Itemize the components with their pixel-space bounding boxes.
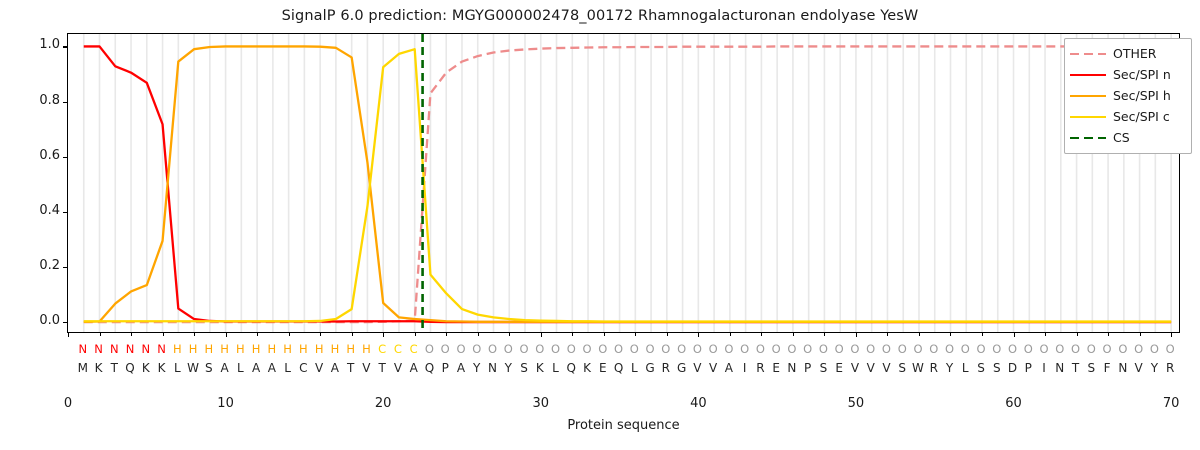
x-tick-minor-mark: [761, 333, 762, 336]
legend-swatch-sec-spi-c-icon: [1070, 111, 1106, 123]
legend-item-cs[interactable]: CS: [1070, 127, 1186, 148]
x-tick-minor-mark: [824, 333, 825, 336]
x-tick-mark: [856, 333, 857, 337]
y-tick-label: 1.0: [16, 37, 60, 52]
amino-acid-label: R: [1159, 360, 1181, 376]
x-tick-minor-mark: [572, 333, 573, 336]
x-tick-minor-mark: [478, 333, 479, 336]
legend-label-sec-spi-n: Sec/SPI n: [1113, 67, 1171, 82]
legend-item-sec-spi-n[interactable]: Sec/SPI n: [1070, 64, 1186, 85]
series-line-sec-spi-h: [84, 46, 1171, 321]
x-tick-minor-mark: [320, 333, 321, 336]
x-tick-minor-mark: [1108, 333, 1109, 336]
x-tick-minor-mark: [100, 333, 101, 336]
x-tick-minor-mark: [982, 333, 983, 336]
x-tick-minor-mark: [1140, 333, 1141, 336]
legend-swatch-other-icon: [1070, 48, 1106, 60]
x-axis-label: Protein sequence: [67, 418, 1180, 433]
legend-swatch-sec-spi-h-icon: [1070, 90, 1106, 102]
legend-label-other: OTHER: [1113, 46, 1156, 61]
plot-svg: [68, 34, 1179, 332]
y-tick-mark: [63, 157, 67, 158]
x-tick-minor-mark: [415, 333, 416, 336]
y-tick-label: 0.8: [16, 93, 60, 108]
y-tick-mark: [63, 212, 67, 213]
x-tick-minor-mark: [730, 333, 731, 336]
legend-item-sec-spi-h[interactable]: Sec/SPI h: [1070, 85, 1186, 106]
y-tick-mark: [63, 46, 67, 47]
x-tick-minor-mark: [1077, 333, 1078, 336]
x-tick-label: 50: [826, 396, 886, 411]
x-tick-mark: [68, 333, 69, 337]
x-tick-minor-mark: [131, 333, 132, 336]
x-tick-minor-mark: [257, 333, 258, 336]
x-tick-label: 30: [511, 396, 571, 411]
y-tick-mark: [63, 267, 67, 268]
x-tick-label: 20: [353, 396, 413, 411]
y-tick-label: 0.6: [16, 148, 60, 163]
region-label: O: [1159, 341, 1181, 357]
x-tick-minor-mark: [887, 333, 888, 336]
x-tick-label: 70: [1141, 396, 1200, 411]
legend-label-sec-spi-c: Sec/SPI c: [1113, 109, 1170, 124]
x-tick-mark: [1014, 333, 1015, 337]
x-tick-mark: [226, 333, 227, 337]
x-tick-minor-mark: [950, 333, 951, 336]
x-tick-minor-mark: [194, 333, 195, 336]
x-tick-mark: [698, 333, 699, 337]
y-tick-label: 0.4: [16, 203, 60, 218]
series-line-sec-spi-n: [84, 46, 1171, 322]
x-tick-minor-mark: [1045, 333, 1046, 336]
x-tick-minor-mark: [604, 333, 605, 336]
legend-label-sec-spi-h: Sec/SPI h: [1113, 88, 1171, 103]
legend-label-cs: CS: [1113, 130, 1130, 145]
x-tick-mark: [383, 333, 384, 337]
plot-area: [67, 33, 1180, 333]
x-tick-minor-mark: [352, 333, 353, 336]
x-tick-label: 0: [38, 396, 98, 411]
legend: OTHER Sec/SPI n Sec/SPI h Sec/SPI c CS: [1064, 38, 1192, 154]
legend-swatch-cs-icon: [1070, 132, 1106, 144]
y-tick-mark: [63, 322, 67, 323]
x-tick-minor-mark: [163, 333, 164, 336]
y-tick-mark: [63, 102, 67, 103]
x-tick-minor-mark: [635, 333, 636, 336]
legend-item-sec-spi-c[interactable]: Sec/SPI c: [1070, 106, 1186, 127]
chart-title: SignalP 6.0 prediction: MGYG000002478_00…: [0, 8, 1200, 24]
amino-acid-sequence-row: MKTQKKLWSALAALCVATVTVAQPAYNYSKLQKEQLGRGV…: [67, 360, 1180, 376]
x-tick-minor-mark: [509, 333, 510, 336]
x-tick-minor-mark: [667, 333, 668, 336]
series-line-sec-spi-c: [84, 49, 1171, 321]
x-tick-mark: [541, 333, 542, 337]
legend-swatch-sec-spi-n-icon: [1070, 69, 1106, 81]
y-tick-label: 0.2: [16, 258, 60, 273]
x-tick-label: 40: [668, 396, 728, 411]
x-tick-mark: [1171, 333, 1172, 337]
series-line-other: [84, 46, 1171, 322]
x-tick-label: 60: [984, 396, 1044, 411]
x-tick-minor-mark: [919, 333, 920, 336]
x-tick-minor-mark: [289, 333, 290, 336]
x-tick-minor-mark: [446, 333, 447, 336]
region-annotation-row: NNNNNNHHHHHHHHHHHHHCCCOOOOOOOOOOOOOOOOOO…: [67, 341, 1180, 357]
x-tick-label: 10: [196, 396, 256, 411]
legend-item-other[interactable]: OTHER: [1070, 43, 1186, 64]
signalp-prediction-figure: SignalP 6.0 prediction: MGYG000002478_00…: [0, 0, 1200, 450]
x-tick-minor-mark: [793, 333, 794, 336]
y-tick-label: 0.0: [16, 313, 60, 328]
